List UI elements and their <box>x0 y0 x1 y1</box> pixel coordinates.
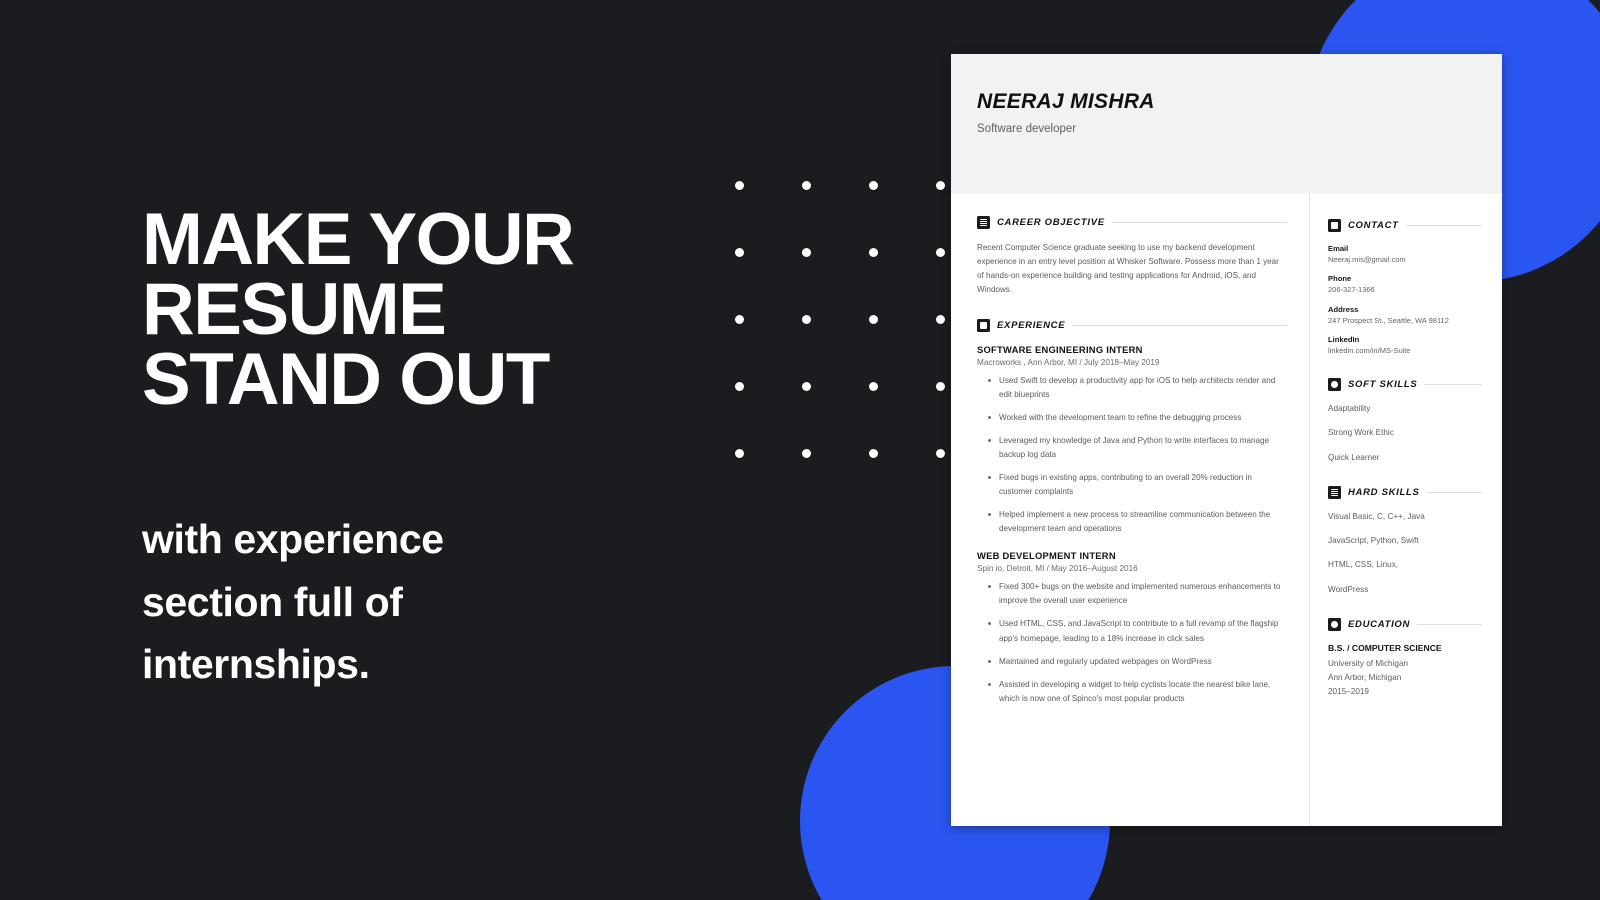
hard-skills-section: HARD SKILLS Visual Basic, C, C++, Java J… <box>1328 486 1482 596</box>
section-title: SOFT SKILLS <box>1348 379 1417 390</box>
divider <box>1424 384 1482 385</box>
grid-dot <box>869 248 878 257</box>
grid-dot <box>869 315 878 324</box>
contact-label: LinkedIn <box>1328 335 1482 344</box>
grid-dot <box>802 315 811 324</box>
grid-dot <box>936 248 945 257</box>
grid-dot <box>936 449 945 458</box>
grid-dot <box>936 315 945 324</box>
grid-dot <box>735 181 744 190</box>
skill-item: WordPress <box>1328 584 1482 596</box>
job-title: SOFTWARE ENGINEERING INTERN <box>977 344 1287 355</box>
skill-item: Adaptability <box>1328 403 1482 415</box>
list-item: Helped implement a new process to stream… <box>999 508 1287 536</box>
career-objective-text: Recent Computer Science graduate seeking… <box>977 241 1287 297</box>
list-item: Fixed 300+ bugs on the website and imple… <box>999 580 1287 608</box>
page-title: MAKE YOUR RESUME STAND OUT <box>142 205 702 415</box>
section-title: HARD SKILLS <box>1348 487 1420 498</box>
section-title: CONTACT <box>1348 220 1399 231</box>
job-bullet-list: Fixed 300+ bugs on the website and imple… <box>977 580 1287 706</box>
divider <box>1112 222 1287 223</box>
section-title: EXPERIENCE <box>997 320 1065 331</box>
job-title: WEB DEVELOPMENT INTERN <box>977 550 1287 561</box>
resume-candidate-name: NEERAJ MISHRA <box>977 90 1502 114</box>
section-header-contact: CONTACT <box>1328 219 1482 232</box>
contact-value: linkedin.com/in/MS-Suite <box>1328 345 1482 356</box>
divider <box>1072 325 1287 326</box>
resume-candidate-role: Software developer <box>977 123 1502 135</box>
contact-section: CONTACT Email Neeraj.mis@gmail.com Phone… <box>1328 219 1482 356</box>
square-outline-icon <box>977 319 990 332</box>
list-item: Leveraged my knowledge of Java and Pytho… <box>999 434 1287 462</box>
education-detail: University of Michigan <box>1328 657 1482 671</box>
divider <box>1406 225 1482 226</box>
section-header-experience: EXPERIENCE <box>977 319 1287 332</box>
contact-item: Email Neeraj.mis@gmail.com <box>1328 244 1482 265</box>
experience-entry: WEB DEVELOPMENT INTERN Spin io, Detroit,… <box>977 550 1287 706</box>
grid-dot <box>735 315 744 324</box>
contact-label: Phone <box>1328 274 1482 283</box>
dense-grid-icon <box>1328 486 1341 499</box>
headline-line-2: RESUME <box>142 275 702 345</box>
resume-side-column: CONTACT Email Neeraj.mis@gmail.com Phone… <box>1309 194 1502 826</box>
square-outline-icon <box>1328 219 1341 232</box>
section-header-education: EDUCATION <box>1328 618 1482 631</box>
grid-dot <box>735 248 744 257</box>
section-header-hard-skills: HARD SKILLS <box>1328 486 1482 499</box>
promo-banner: MAKE YOUR RESUME STAND OUT with experien… <box>0 0 1600 900</box>
contact-item: Address 247 Prospect St., Seattle, WA 98… <box>1328 305 1482 326</box>
list-item: Assisted in developing a widget to help … <box>999 678 1287 706</box>
list-item: Maintained and regularly updated webpage… <box>999 655 1287 669</box>
contact-label: Email <box>1328 244 1482 253</box>
resume-preview-card[interactable]: NEERAJ MISHRA Software developer CAREER … <box>951 54 1502 826</box>
resume-main-column: CAREER OBJECTIVE Recent Computer Science… <box>951 194 1309 826</box>
list-item: Used HTML, CSS, and JavaScript to contri… <box>999 617 1287 645</box>
skill-item: HTML, CSS, Linux, <box>1328 559 1482 571</box>
skill-item: JavaScript, Python, Swift <box>1328 535 1482 547</box>
job-meta: Macroworks , Ann Arbor, MI / July 2018–M… <box>977 358 1287 367</box>
skill-item: Quick Learner <box>1328 452 1482 464</box>
dense-grid-icon <box>977 216 990 229</box>
grid-dot <box>869 449 878 458</box>
grid-dot <box>802 382 811 391</box>
grid-dot <box>936 181 945 190</box>
grid-dot <box>936 382 945 391</box>
grid-dot <box>869 382 878 391</box>
section-header-soft-skills: SOFT SKILLS <box>1328 378 1482 391</box>
section-header-career-objective: CAREER OBJECTIVE <box>977 216 1287 229</box>
soft-skills-section: SOFT SKILLS Adaptability Strong Work Eth… <box>1328 378 1482 464</box>
job-bullet-list: Used Swift to develop a productivity app… <box>977 374 1287 537</box>
education-detail: Ann Arbor, Michigan <box>1328 671 1482 685</box>
headline-line-3: STAND OUT <box>142 345 702 415</box>
contact-value: 247 Prospect St., Seattle, WA 98112 <box>1328 315 1482 326</box>
resume-body: CAREER OBJECTIVE Recent Computer Science… <box>951 194 1502 826</box>
list-item: Fixed bugs in existing apps, contributin… <box>999 471 1287 499</box>
skill-item: Visual Basic, C, C++, Java <box>1328 511 1482 523</box>
job-meta: Spin io, Detroit, MI / May 2016–August 2… <box>977 564 1287 573</box>
experience-entry: SOFTWARE ENGINEERING INTERN Macroworks ,… <box>977 344 1287 537</box>
grid-dot <box>802 449 811 458</box>
skill-item: Strong Work Ethic <box>1328 427 1482 439</box>
section-title: EDUCATION <box>1348 619 1410 630</box>
headline-line-1: MAKE YOUR <box>142 205 702 275</box>
list-item: Worked with the development team to refi… <box>999 411 1287 425</box>
grid-dot <box>869 181 878 190</box>
grid-dot <box>802 181 811 190</box>
education-degree: B.S. / COMPUTER SCIENCE <box>1328 643 1482 653</box>
education-detail: 2015–2019 <box>1328 685 1482 699</box>
grid-dot <box>735 449 744 458</box>
circle-outline-icon <box>1328 378 1341 391</box>
circle-outline-icon <box>1328 618 1341 631</box>
contact-item: LinkedIn linkedin.com/in/MS-Suite <box>1328 335 1482 356</box>
grid-dot <box>802 248 811 257</box>
section-title: CAREER OBJECTIVE <box>997 217 1105 228</box>
resume-header: NEERAJ MISHRA Software developer <box>951 54 1502 194</box>
subheadline: with experience section full of internsh… <box>142 508 592 696</box>
education-section: EDUCATION B.S. / COMPUTER SCIENCE Univer… <box>1328 618 1482 699</box>
contact-value: 206-327-1366 <box>1328 284 1482 295</box>
divider <box>1427 492 1482 493</box>
contact-value: Neeraj.mis@gmail.com <box>1328 254 1482 265</box>
contact-label: Address <box>1328 305 1482 314</box>
grid-dot <box>735 382 744 391</box>
divider <box>1417 624 1482 625</box>
list-item: Used Swift to develop a productivity app… <box>999 374 1287 402</box>
contact-item: Phone 206-327-1366 <box>1328 274 1482 295</box>
